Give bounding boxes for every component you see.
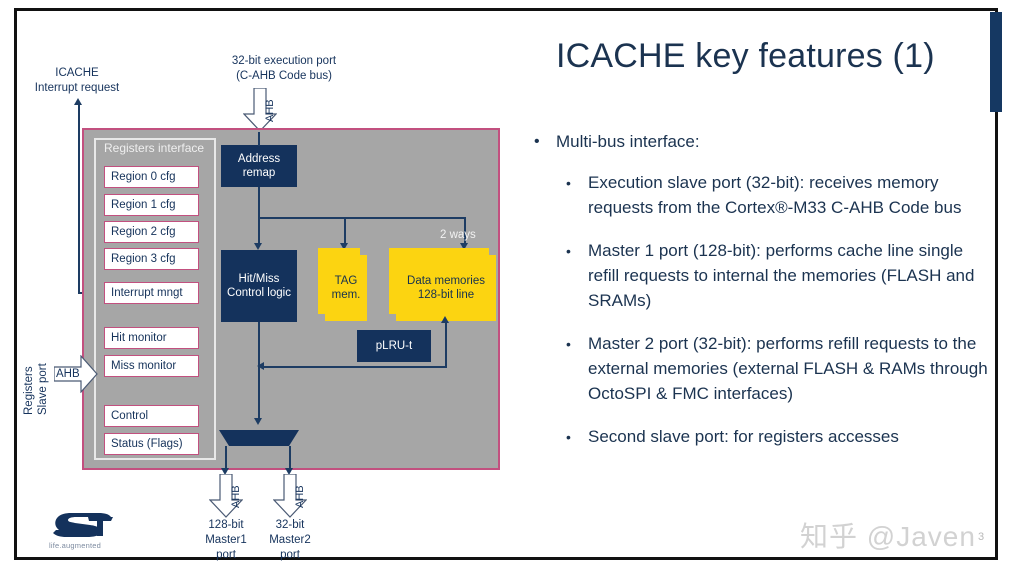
master2-label-line1: 32-bit bbox=[256, 518, 324, 532]
page-number: 3 bbox=[978, 531, 984, 543]
line-ahb-to-address-remap bbox=[258, 132, 260, 146]
hitmiss-line1: Hit/Miss bbox=[239, 273, 280, 285]
register-region0[interactable]: Region 0 cfg bbox=[104, 166, 199, 188]
watermark: 知乎 @Javen bbox=[800, 515, 976, 555]
block-mux[interactable] bbox=[219, 430, 299, 446]
interrupt-line-vertical bbox=[78, 104, 80, 294]
block-address-remap[interactable]: Address remap bbox=[221, 145, 297, 187]
line-to-tag bbox=[344, 217, 346, 245]
arrowhead-to-hitmiss-icon bbox=[254, 243, 262, 250]
line-remap-down bbox=[258, 187, 260, 219]
master1-label-line2: Master1 bbox=[192, 533, 260, 547]
bullet-list: • Multi-bus interface: • Execution slave… bbox=[520, 130, 990, 467]
execution-port-label-line2: (C-AHB Code bus) bbox=[196, 69, 372, 83]
line-feedback-vertical bbox=[445, 322, 447, 368]
bullet-dot-icon: • bbox=[566, 425, 571, 449]
register-interrupt-mngt[interactable]: Interrupt mngt bbox=[104, 282, 199, 304]
register-status-flags[interactable]: Status (Flags) bbox=[104, 433, 199, 455]
arrowhead-feedback-up-icon bbox=[441, 316, 449, 323]
bullet-level1: • Multi-bus interface: bbox=[520, 130, 990, 154]
ahb-arrow-top-label: AHB bbox=[264, 99, 276, 122]
icache-block-diagram: 32-bit execution port (C-AHB Code bus) I… bbox=[0, 0, 520, 575]
line-remap-bus-horizontal bbox=[258, 217, 466, 219]
master1-label-line3: port bbox=[192, 548, 260, 562]
st-logo-tagline: life.augmented bbox=[49, 541, 101, 550]
bullet-dot-icon: • bbox=[566, 332, 571, 356]
bullet-level2: • Second slave port: for registers acces… bbox=[520, 424, 990, 449]
arrowhead-to-mux-icon bbox=[254, 418, 262, 425]
bullet-text: Master 1 port (128-bit): performs cache … bbox=[588, 241, 974, 310]
bullet-dot-icon: • bbox=[566, 171, 571, 195]
tag-line2: mem. bbox=[332, 289, 361, 301]
interrupt-label-line2: Interrupt request bbox=[18, 81, 136, 95]
register-region2[interactable]: Region 2 cfg bbox=[104, 221, 199, 243]
bullet-dot-icon: • bbox=[534, 131, 540, 153]
register-region3[interactable]: Region 3 cfg bbox=[104, 248, 199, 270]
address-remap-line1: Address bbox=[238, 153, 280, 165]
line-feedback-horizontal bbox=[264, 366, 447, 368]
datamem-line2: 128-bit line bbox=[418, 289, 474, 301]
bullet-text: Second slave port: for registers accesse… bbox=[588, 427, 899, 446]
register-control[interactable]: Control bbox=[104, 405, 199, 427]
block-hit-miss-control-logic[interactable]: Hit/Miss Control logic bbox=[221, 250, 297, 322]
line-mux-to-master2 bbox=[289, 446, 291, 470]
bullet-text: Multi-bus interface: bbox=[556, 132, 700, 151]
bullet-text: Master 2 port (32-bit): performs refill … bbox=[588, 334, 988, 403]
registers-slave-port-label: Registers bbox=[22, 366, 36, 415]
register-miss-monitor[interactable]: Miss monitor bbox=[104, 355, 199, 377]
line-mux-to-master1 bbox=[225, 446, 227, 470]
bullet-level2: • Master 2 port (32-bit): performs refil… bbox=[520, 331, 990, 406]
address-remap-line2: remap bbox=[243, 167, 276, 179]
master2-label-line3: port bbox=[256, 548, 324, 562]
block-plru-t[interactable]: pLRU-t bbox=[357, 330, 431, 362]
register-region1[interactable]: Region 1 cfg bbox=[104, 194, 199, 216]
interrupt-label-line1: ICACHE bbox=[18, 66, 136, 80]
ahb-arrow-master1-label: AHB bbox=[230, 485, 242, 508]
master2-label-line2: Master2 bbox=[256, 533, 324, 547]
line-to-hitmiss bbox=[258, 217, 260, 245]
bullet-text: Execution slave port (32-bit): receives … bbox=[588, 173, 961, 217]
plru-label: pLRU-t bbox=[376, 339, 412, 353]
registers-slave-port-label-2: Slave port bbox=[36, 363, 50, 415]
ways-label: 2 ways bbox=[440, 228, 494, 242]
hitmiss-line2: Control logic bbox=[227, 287, 291, 299]
bullet-dot-icon: • bbox=[566, 239, 571, 263]
tag-line1: TAG bbox=[335, 275, 358, 287]
page-title: ICACHE key features (1) bbox=[556, 36, 986, 76]
bullet-level2: • Master 1 port (128-bit): performs cach… bbox=[520, 238, 990, 313]
master1-label-line1: 128-bit bbox=[192, 518, 260, 532]
st-logo-icon bbox=[52, 508, 114, 538]
ahb-arrow-master2-label: AHB bbox=[294, 485, 306, 508]
register-hit-monitor[interactable]: Hit monitor bbox=[104, 327, 199, 349]
bullet-level2: • Execution slave port (32-bit): receive… bbox=[520, 170, 990, 220]
line-hitmiss-to-mux bbox=[258, 322, 260, 420]
interrupt-arrowhead-icon bbox=[74, 98, 82, 105]
slide-root: ICACHE key features (1) • Multi-bus inte… bbox=[0, 0, 1018, 575]
title-accent-bar bbox=[990, 12, 1002, 112]
block-data-memories[interactable]: Data memories 128-bit line bbox=[396, 255, 496, 321]
registers-interface-title: Registers interface bbox=[104, 141, 214, 155]
ahb-arrow-left-label: AHB bbox=[56, 367, 86, 381]
execution-port-label-line1: 32-bit execution port bbox=[196, 54, 372, 68]
datamem-line1: Data memories bbox=[407, 275, 485, 287]
block-tag-mem[interactable]: TAG mem. bbox=[325, 255, 367, 321]
